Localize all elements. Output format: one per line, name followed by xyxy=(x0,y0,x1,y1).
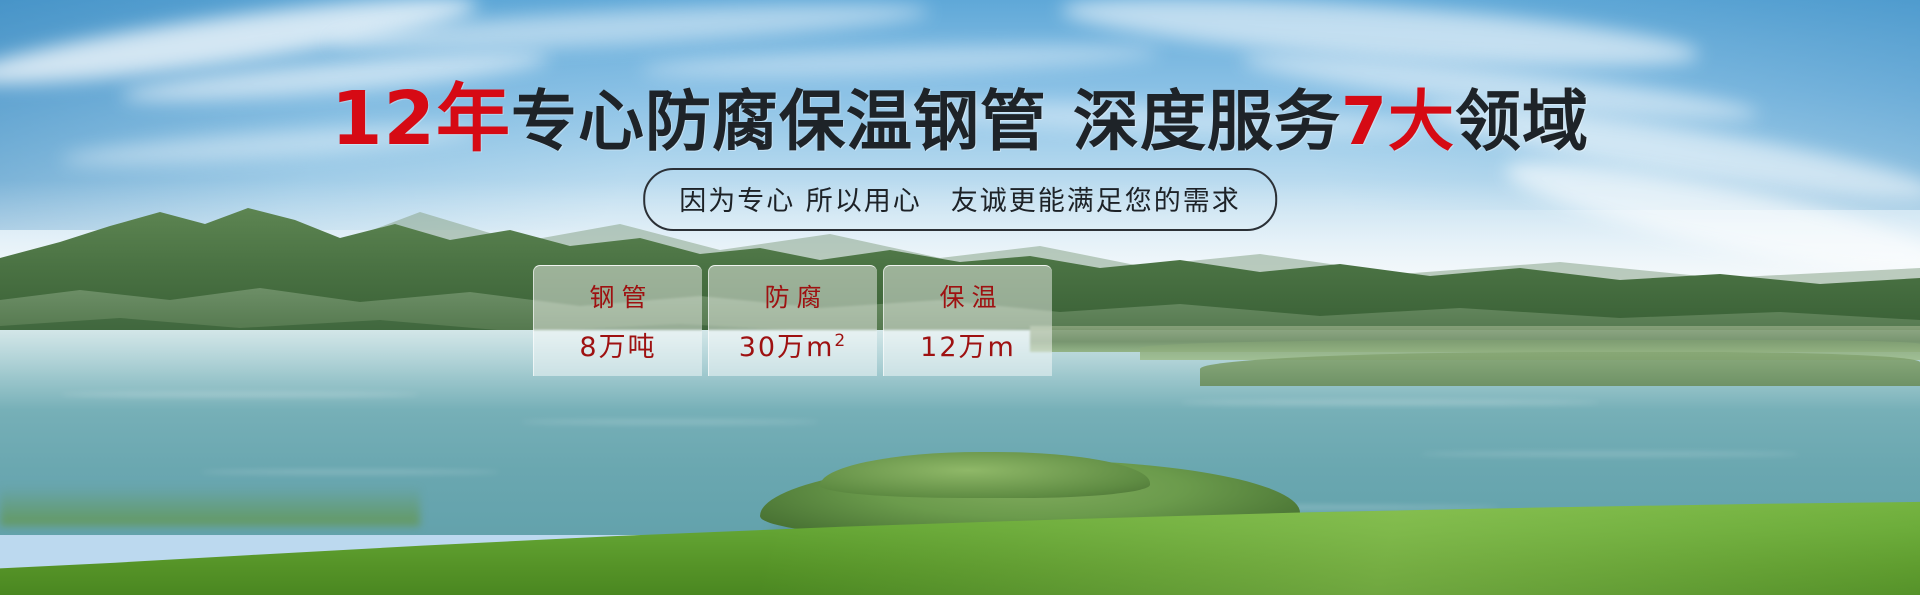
stat-card-steel-pipe[interactable]: 钢管 8万吨 xyxy=(533,265,702,376)
headline-seven-fields: 7大 xyxy=(1341,83,1455,160)
stat-card-label: 保温 xyxy=(932,278,1003,314)
headline-focus: 专心防腐保温钢管 xyxy=(511,83,1047,160)
stat-card-anticorrosion[interactable]: 防腐 30万m2 xyxy=(708,265,877,376)
headline-years: 12年 xyxy=(331,76,511,162)
headline: 12年专心防腐保温钢管深度服务7大领域 xyxy=(0,82,1920,156)
stat-card-value: 12万m xyxy=(920,325,1016,364)
subtitle-pill: 因为专心 所以用心 友诚更能满足您的需求 xyxy=(643,168,1277,231)
marsh-vegetation xyxy=(1200,352,1920,386)
stat-value-superscript: 2 xyxy=(834,331,847,351)
water-ripple xyxy=(200,470,500,474)
stat-value-text: 30万m xyxy=(739,332,835,363)
stat-value-text: 8万吨 xyxy=(579,332,656,363)
headline-service: 深度服务 xyxy=(1073,83,1341,160)
stat-card-value: 8万吨 xyxy=(579,325,656,364)
water-ripple xyxy=(1420,452,1800,456)
stat-card-value: 30万m2 xyxy=(739,325,848,364)
water-ripple xyxy=(60,392,420,397)
stat-card-label: 钢管 xyxy=(582,278,653,314)
hero-banner: 12年专心防腐保温钢管深度服务7大领域 因为专心 所以用心 友诚更能满足您的需求… xyxy=(0,0,1920,595)
headline-fields: 领域 xyxy=(1455,83,1589,160)
stat-value-text: 12万m xyxy=(920,332,1016,363)
stat-card-label: 防腐 xyxy=(757,278,828,314)
stat-card-insulation[interactable]: 保温 12万m xyxy=(883,265,1052,376)
left-shoreline xyxy=(0,486,420,526)
stat-card-group: 钢管 8万吨 防腐 30万m2 保温 12万m xyxy=(533,265,1052,376)
water-ripple xyxy=(1180,400,1600,405)
water-ripple xyxy=(520,420,820,424)
